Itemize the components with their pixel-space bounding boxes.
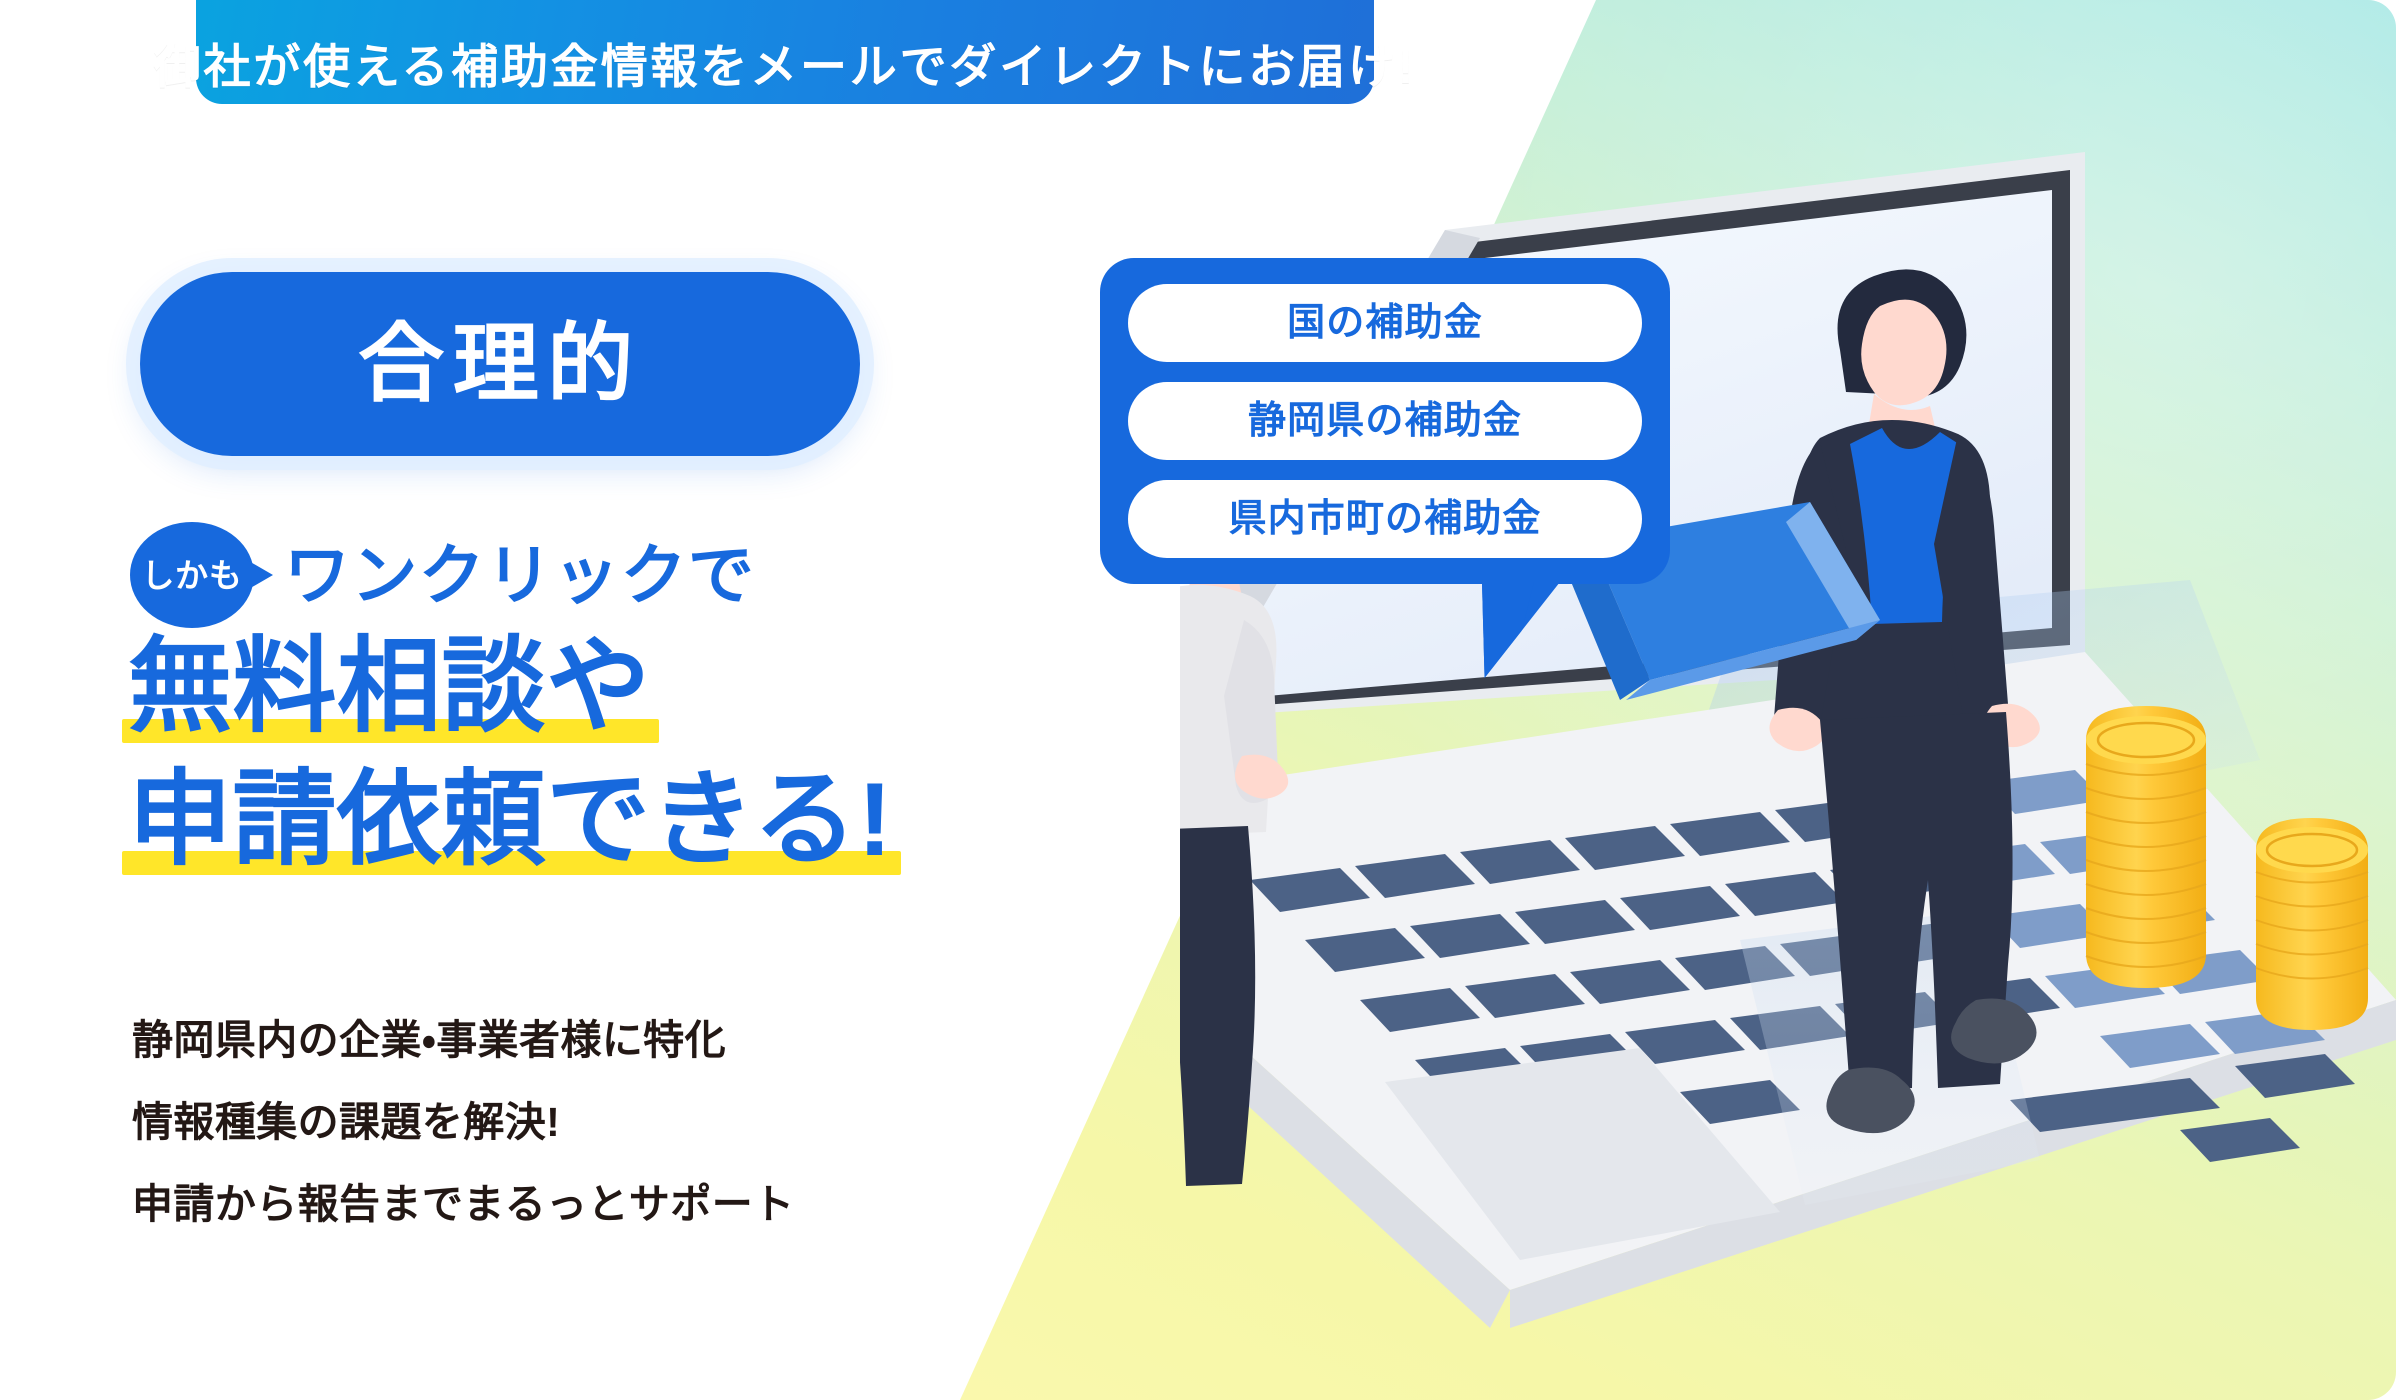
headline-line-1-text: 無料相談や	[128, 628, 651, 747]
badge-pill-label: 合理的	[358, 321, 642, 407]
header-ribbon-text: 御社が使える補助金情報をメールでダイレクトにお届け!	[154, 43, 1417, 90]
subheading-row: しかも ワンクリックで	[130, 522, 755, 628]
subsidy-pill-prefecture: 静岡県の補助金	[1128, 382, 1642, 460]
body-copy-line-2: 情報種集の課題を解決!	[132, 1102, 795, 1143]
body-copy-line-1: 静岡県内の企業・事業者様に特化	[132, 1020, 795, 1061]
subsidy-pill-municipal-label: 県内市町の補助金	[1228, 500, 1541, 538]
subsidy-pill-national: 国の補助金	[1128, 284, 1642, 362]
subsidy-pill-national-label: 国の補助金	[1287, 304, 1483, 342]
body-copy-line-3: 申請から報告までまるっとサポート	[132, 1184, 795, 1225]
left-content-column: 合理的 しかも ワンクリックで 無料相談や 申請依頼できる! 静岡県内の企業・事…	[0, 0, 1120, 1400]
shikamo-bubble-label: しかも	[142, 559, 243, 592]
headline-line-2-text: 申請依頼できる!	[128, 761, 893, 880]
headline-block: 無料相談や 申請依頼できる!	[128, 628, 893, 893]
body-copy-block: 静岡県内の企業・事業者様に特化 情報種集の課題を解決! 申請から報告までまるっと…	[132, 1020, 795, 1266]
subsidy-speech-bubble: 国の補助金 静岡県の補助金 県内市町の補助金	[1100, 258, 1670, 584]
coin-stack-tall	[2086, 706, 2206, 988]
subheading-text: ワンクリックで	[284, 542, 755, 608]
headline-line-2: 申請依頼できる!	[128, 761, 893, 880]
coin-stack-short	[2256, 818, 2368, 1030]
header-ribbon: 御社が使える補助金情報をメールでダイレクトにお届け!	[196, 0, 1374, 104]
subsidy-pill-municipal: 県内市町の補助金	[1128, 480, 1642, 558]
shikamo-bubble-icon: しかも	[130, 522, 254, 628]
headline-line-1: 無料相談や	[128, 628, 651, 747]
promo-banner: 御社が使える補助金情報をメールでダイレクトにお届け! 合理的 しかも ワンクリッ…	[0, 0, 2396, 1400]
subsidy-pill-prefecture-label: 静岡県の補助金	[1248, 402, 1522, 440]
badge-pill: 合理的	[140, 272, 860, 456]
